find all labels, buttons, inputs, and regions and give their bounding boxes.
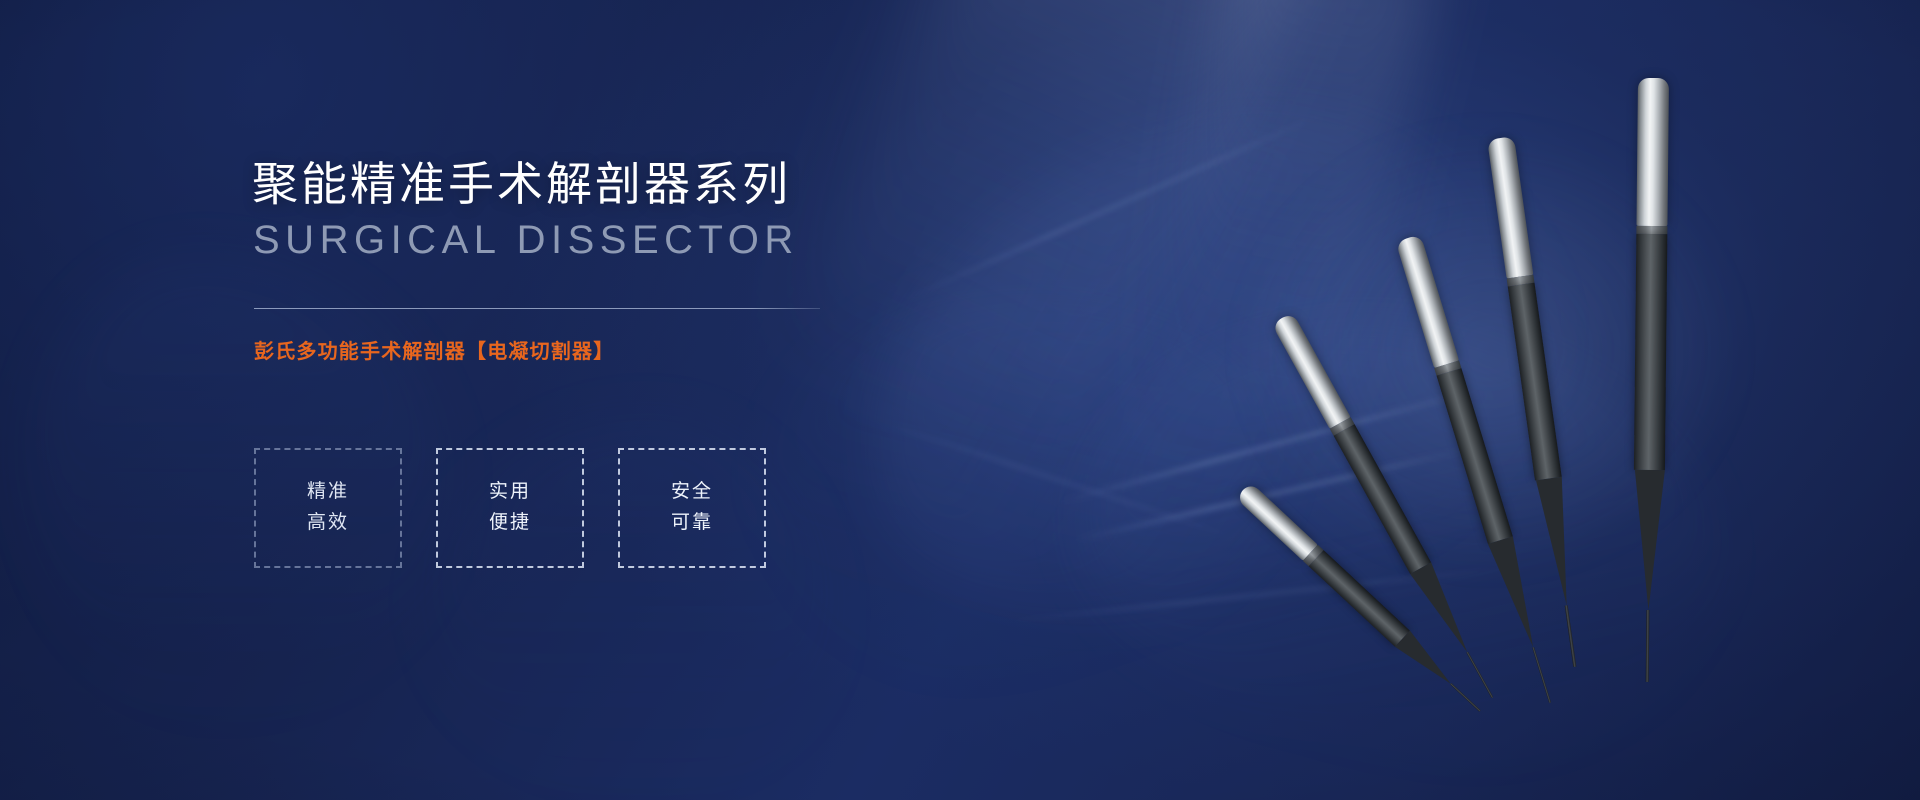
banner-text-block: 聚能精准手术解剖器系列 SURGICAL DISSECTOR 彭氏多功能手术解剖… xyxy=(252,0,1012,800)
feature-badge-practical: 实用 便捷 xyxy=(436,448,584,568)
banner-product-name: 彭氏多功能手术解剖器【电凝切割器】 xyxy=(254,335,614,364)
feature-line-2: 便捷 xyxy=(489,508,531,539)
banner-title-chinese: 聚能精准手术解剖器系列 xyxy=(252,148,791,214)
feature-badge-safety: 安全 可靠 xyxy=(618,448,766,568)
feature-line-1: 精准 xyxy=(307,477,349,508)
feature-line-2: 高效 xyxy=(307,508,349,539)
banner-title-english: SURGICAL DISSECTOR xyxy=(253,218,799,263)
feature-line-2: 可靠 xyxy=(671,508,713,539)
feature-line-1: 安全 xyxy=(671,477,713,508)
feature-badge-group: 精准 高效 实用 便捷 安全 可靠 xyxy=(254,448,766,568)
title-divider xyxy=(254,308,820,309)
feature-line-1: 实用 xyxy=(489,477,531,508)
feature-badge-precision: 精准 高效 xyxy=(254,448,402,568)
product-hero-banner: 聚能精准手术解剖器系列 SURGICAL DISSECTOR 彭氏多功能手术解剖… xyxy=(0,0,1920,800)
